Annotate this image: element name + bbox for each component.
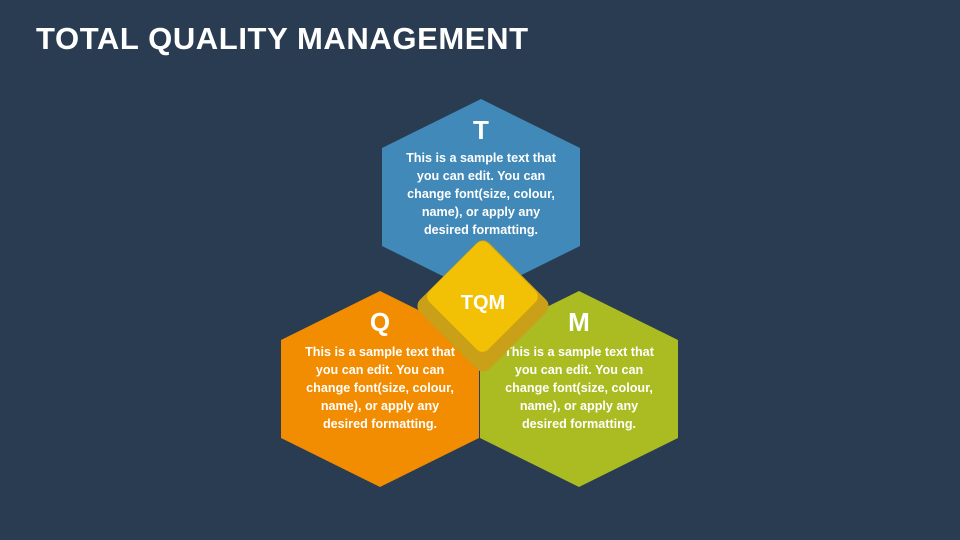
hexagon-body-left: This is a sample text that you can edit.… bbox=[299, 343, 461, 433]
hexagon-body-top: This is a sample text that you can edit.… bbox=[400, 149, 562, 239]
center-diamond-label: TQM bbox=[434, 293, 532, 313]
slide-canvas: TOTAL QUALITY MANAGEMENT T This is a sam… bbox=[0, 0, 960, 540]
hexagon-letter-top: T bbox=[382, 117, 580, 143]
hexagon-body-right: This is a sample text that you can edit.… bbox=[498, 343, 660, 433]
tqm-hexagon-diagram: T This is a sample text that you can edi… bbox=[0, 0, 960, 540]
